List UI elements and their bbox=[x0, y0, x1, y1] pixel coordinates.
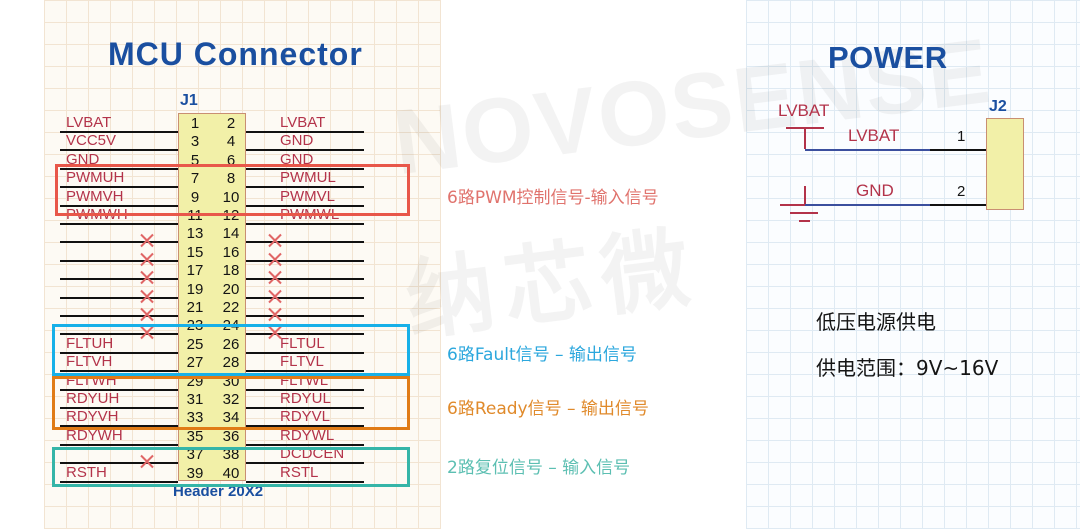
j1-net-label-right: LVBAT bbox=[280, 115, 325, 130]
j2-net-label-lvbat: LVBAT bbox=[848, 126, 899, 146]
j2-pin-number-1: 1 bbox=[957, 128, 965, 145]
j1-net-label-left: RDYWH bbox=[66, 428, 123, 443]
annotation-pwm: 6路PWM控制信号-输入信号 bbox=[447, 183, 659, 208]
schematic-canvas: NOVOSENSE 纳芯微 MCU Connector POWER J1 Hea… bbox=[0, 0, 1080, 529]
ground-icon bbox=[770, 186, 840, 226]
lvbat-supply-label: LVBAT bbox=[778, 101, 829, 121]
grid-background-right bbox=[746, 0, 1080, 529]
annotation-fault: 6路Fault信号 – 输出信号 bbox=[447, 340, 637, 365]
j2-pin-number-2: 2 bbox=[957, 183, 965, 200]
power-title: POWER bbox=[828, 40, 948, 76]
watermark-chinese: 纳芯微 bbox=[398, 196, 705, 358]
annotation-ready: 6路Ready信号 – 输出信号 bbox=[447, 394, 649, 419]
power-description-line1: 低压电源供电 bbox=[816, 306, 936, 335]
highlight-box-reset bbox=[52, 447, 410, 487]
j2-net-label-gnd: GND bbox=[856, 181, 894, 201]
mcu-connector-title: MCU Connector bbox=[108, 36, 363, 73]
j1-net-label-right: GND bbox=[280, 133, 313, 148]
power-supply-icon bbox=[786, 127, 824, 149]
j2-connector-body bbox=[986, 118, 1024, 210]
j2-pin-wire-2 bbox=[930, 204, 986, 206]
j2-reference-designator: J2 bbox=[989, 98, 1007, 116]
highlight-box-pwm bbox=[55, 164, 410, 216]
highlight-box-fault bbox=[52, 324, 410, 376]
j2-pin-wire-1 bbox=[930, 149, 986, 151]
j1-net-label-right: RDYWL bbox=[280, 428, 334, 443]
annotation-reset: 2路复位信号 – 输入信号 bbox=[447, 453, 630, 478]
j1-reference-designator: J1 bbox=[180, 92, 198, 110]
j1-net-label-left: LVBAT bbox=[66, 115, 111, 130]
power-description-line2: 供电范围：9V~16V bbox=[816, 352, 998, 381]
highlight-box-ready bbox=[52, 376, 410, 430]
j1-net-label-left: VCC5V bbox=[66, 133, 116, 148]
